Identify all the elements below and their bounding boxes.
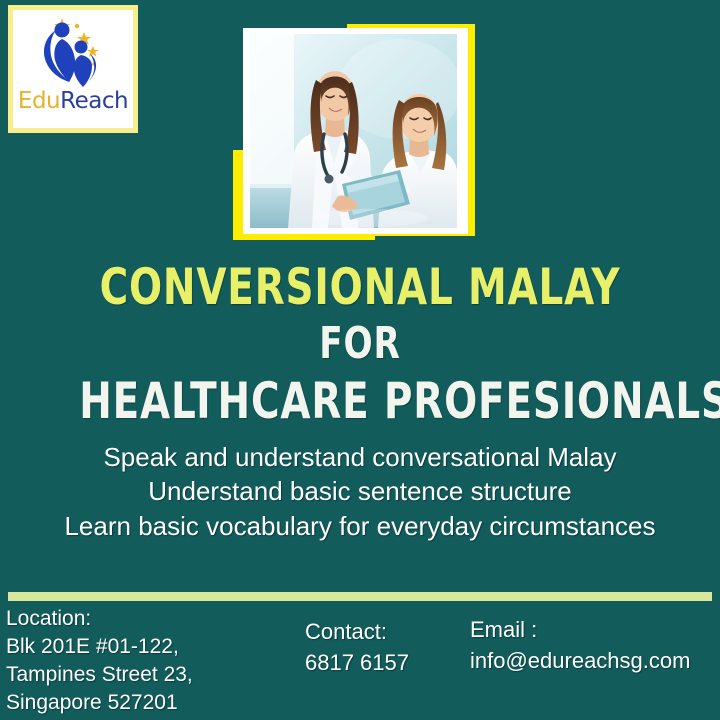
location-block: Location: Blk 201E #01-122, Tampines Str…	[6, 605, 193, 717]
logo-card: EduReach	[8, 5, 138, 133]
benefit-item: Speak and understand conversational Mala…	[0, 440, 720, 474]
footer-contact-bar: Location: Blk 201E #01-122, Tampines Str…	[0, 601, 720, 720]
headline-group: Conversional Malay For Healthcare Profes…	[0, 262, 720, 426]
contact-phone-number[interactable]: 6817 6157	[305, 647, 409, 678]
email-label: Email :	[470, 614, 690, 645]
location-label: Location:	[6, 605, 193, 633]
headline-for: For	[79, 322, 641, 366]
logo-word-reach: Reach	[60, 88, 128, 114]
benefit-item: Learn basic vocabulary for everyday circ…	[0, 509, 720, 543]
logo-wordmark: EduReach	[18, 90, 128, 113]
contact-block: Contact: 6817 6157	[305, 616, 409, 678]
benefit-item: Understand basic sentence structure	[0, 474, 720, 508]
email-block: Email : info@edureachsg.com	[470, 614, 690, 676]
headline-primary: Conversional Malay	[79, 262, 641, 312]
footer-divider	[8, 592, 712, 601]
logo-word-edu: Edu	[18, 88, 60, 114]
logo-inner: EduReach	[13, 10, 133, 128]
hero-photo-block	[225, 10, 475, 250]
contact-label: Contact:	[305, 616, 409, 647]
location-line-1: Blk 201E #01-122,	[6, 633, 193, 661]
poster-canvas: EduReach	[0, 0, 720, 720]
course-benefits-list: Speak and understand conversational Mala…	[0, 440, 720, 543]
location-line-3: Singapore 527201	[6, 689, 193, 717]
healthcare-professionals-photo	[250, 34, 457, 228]
headline-audience: Healthcare Profesionals	[79, 376, 641, 426]
edureach-logo-icon	[32, 14, 114, 92]
location-line-2: Tampines Street 23,	[6, 661, 193, 689]
email-address[interactable]: info@edureachsg.com	[470, 645, 690, 676]
